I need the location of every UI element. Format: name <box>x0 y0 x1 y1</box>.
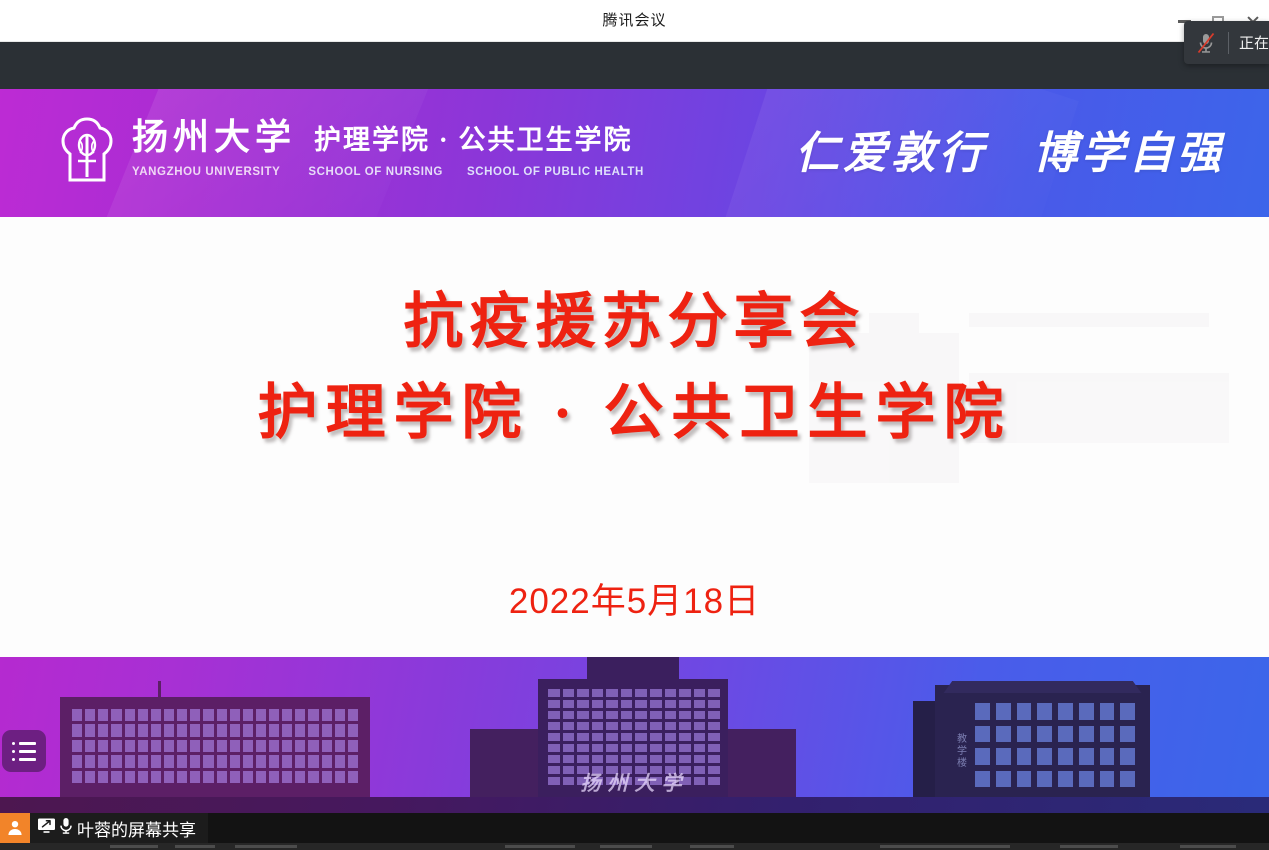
university-logo-block: 扬州大学 护理学院 · 公共卫生学院 YANGZHOU UNIVERSITY S… <box>56 115 644 187</box>
slide-banner: 扬州大学 护理学院 · 公共卫生学院 YANGZHOU UNIVERSITY S… <box>0 89 1269 217</box>
mic-status-widget[interactable]: 正在 <box>1184 21 1269 64</box>
headline-line-1: 抗疫援苏分享会 <box>404 289 866 355</box>
microphone-muted-icon <box>1196 31 1216 55</box>
window-title-bar: 腾讯会议 <box>0 0 1269 42</box>
screen-share-icon <box>37 817 56 839</box>
building-left-spire <box>158 681 161 697</box>
university-name-cn: 扬州大学 <box>132 119 296 155</box>
microphone-icon <box>59 817 73 840</box>
motto-part-1: 仁爱敦行 <box>795 117 987 181</box>
campus-ground <box>0 797 1269 813</box>
headline-line-2: 护理学院 · 公共卫生学院 <box>0 368 1269 459</box>
slide-headline: 抗疫援苏分享会 护理学院 · 公共卫生学院 <box>0 277 1269 459</box>
university-name-en: YANGZHOU UNIVERSITY <box>132 166 280 178</box>
university-motto: 仁爱敦行 博学自强 <box>795 117 1225 181</box>
shared-screen-slide: 扬州大学 护理学院 · 公共卫生学院 YANGZHOU UNIVERSITY S… <box>0 89 1269 813</box>
meeting-toolbar <box>0 42 1269 89</box>
slide-date: 2022年5月18日 <box>0 573 1269 624</box>
share-owner-label: 叶蓉的屏幕共享 <box>77 816 208 841</box>
building-right-label: 教学楼 <box>953 733 966 769</box>
slide-body: 抗疫援苏分享会 护理学院 · 公共卫生学院 2022年5月18日 <box>0 217 1269 657</box>
list-icon <box>12 742 36 761</box>
campus-illustration: 教学楼 扬州大学 <box>0 657 1269 813</box>
chip-icon-group <box>30 817 77 840</box>
mic-status-text: 正在 <box>1239 32 1269 53</box>
desktop-taskbar-sliver <box>0 843 1269 850</box>
campus-title-text: 扬州大学 <box>0 767 1269 796</box>
logo-english-row: YANGZHOU UNIVERSITY SCHOOL OF NURSING SC… <box>132 166 644 178</box>
slide-list-button[interactable] <box>2 730 46 772</box>
screen-share-chip[interactable]: 叶蓉的屏幕共享 <box>0 813 208 843</box>
window-title: 腾讯会议 <box>0 0 1269 42</box>
meeting-window: 腾讯会议 正在 <box>0 0 1269 850</box>
building-center-tower <box>587 657 679 679</box>
bottom-status-bar: 叶蓉的屏幕共享 <box>0 813 1269 843</box>
motto-part-2: 博学自强 <box>1033 117 1225 181</box>
department-name-en-1: SCHOOL OF NURSING <box>308 166 443 178</box>
person-icon <box>0 813 30 843</box>
widget-divider <box>1228 32 1229 54</box>
building-right-cap <box>935 681 1150 693</box>
university-emblem-icon <box>56 115 118 187</box>
department-name-en-2: SCHOOL OF PUBLIC HEALTH <box>467 166 644 178</box>
logo-text-wrap: 扬州大学 护理学院 · 公共卫生学院 YANGZHOU UNIVERSITY S… <box>132 115 644 178</box>
department-name-cn: 护理学院 · 公共卫生学院 <box>314 127 633 154</box>
logo-chinese-row: 扬州大学 护理学院 · 公共卫生学院 <box>132 119 644 155</box>
